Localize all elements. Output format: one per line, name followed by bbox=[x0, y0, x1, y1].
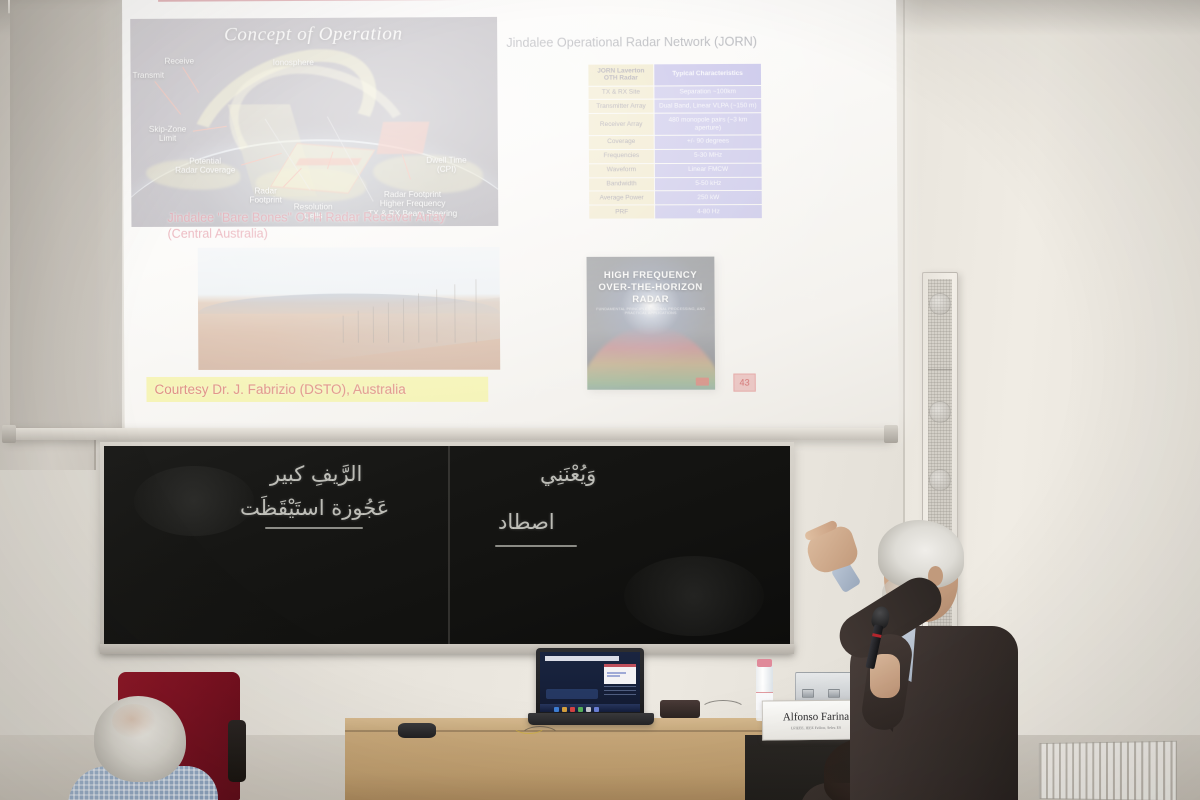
courtesy-highlight: Courtesy Dr. J. Fabrizio (DSTO), Austral… bbox=[146, 377, 488, 402]
row-value: 5-30 MHz bbox=[655, 149, 762, 162]
speaker-driver-icon bbox=[929, 469, 951, 491]
row-value: 5-50 kHz bbox=[655, 177, 762, 190]
receiver-array-photo bbox=[198, 247, 501, 370]
chalk-underline bbox=[265, 527, 363, 529]
laptop-notes-pane bbox=[604, 686, 636, 698]
taskbar-icon[interactable] bbox=[578, 707, 583, 712]
table-header-row: JORN Laverton OTH Radar Typical Characte… bbox=[588, 64, 761, 86]
computer-mouse[interactable] bbox=[398, 723, 436, 738]
table-row: WaveformLinear FMCW bbox=[589, 163, 762, 177]
chalk-text-right-1: وَيُعْنَنِي bbox=[540, 462, 596, 486]
audience-member-left bbox=[60, 690, 270, 800]
row-key: Waveform bbox=[589, 164, 654, 177]
row-value: Separation ~100km bbox=[654, 86, 761, 99]
presenter bbox=[808, 508, 1020, 800]
row-key: Average Power bbox=[589, 192, 654, 205]
chalk-ledge bbox=[100, 644, 794, 654]
chalk-text-left-2: عَجُوزة استَيْقَظَت bbox=[240, 496, 389, 520]
row-value: 480 monopole pairs (~3 km aperture) bbox=[655, 114, 762, 135]
row-value: 4-80 Hz bbox=[655, 205, 762, 218]
label-receive: Receive bbox=[164, 57, 194, 67]
taskbar-icon[interactable] bbox=[570, 707, 575, 712]
row-key: Coverage bbox=[589, 136, 654, 149]
label-transmit: Transmit bbox=[133, 71, 165, 81]
laptop-titlebar bbox=[545, 656, 619, 661]
table-header-key: JORN Laverton OTH Radar bbox=[588, 64, 653, 85]
table-row: Bandwidth5-50 kHz bbox=[589, 177, 762, 191]
antenna-mast bbox=[358, 311, 359, 343]
screen-unlit-area bbox=[10, 0, 122, 436]
label-radar-footprint: Radar Footprint bbox=[249, 186, 282, 205]
row-value: Linear FMCW bbox=[655, 163, 762, 176]
table-header-value: Typical Characteristics bbox=[654, 64, 761, 85]
label-ionosphere: Ionosphere bbox=[273, 58, 314, 68]
jorn-characteristics-table: JORN Laverton OTH Radar Typical Characte… bbox=[587, 63, 763, 220]
publisher-logo-icon bbox=[696, 378, 709, 386]
laptop-base[interactable] bbox=[528, 713, 654, 725]
screen-roller-end bbox=[2, 425, 16, 443]
chalk-text-right-2: اصطاد bbox=[498, 510, 555, 534]
table-row: TX & RX SiteSeparation ~100km bbox=[588, 86, 761, 100]
jorn-heading: Jindalee Operational Radar Network (JORN… bbox=[506, 34, 810, 50]
table-row: PRF4-80 Hz bbox=[589, 205, 762, 218]
bottle-cap bbox=[757, 659, 772, 667]
higher-frequency-footprint bbox=[376, 122, 429, 154]
blackboard[interactable] bbox=[104, 446, 790, 644]
chalk-smudge bbox=[134, 466, 254, 536]
row-key: TX & RX Site bbox=[588, 86, 653, 99]
power-cable bbox=[512, 716, 546, 734]
chalk-text-left-1: الرَّيفِ كبير bbox=[270, 462, 362, 486]
antenna-mast bbox=[454, 284, 455, 343]
taskbar-icon[interactable] bbox=[554, 707, 559, 712]
laptop-lid bbox=[536, 648, 644, 716]
receiver-array-caption: Jindalee "Bare Bones" OTH Radar Receiver… bbox=[167, 209, 499, 242]
laptop-slide-thumbnail bbox=[604, 664, 636, 684]
label-potential-radar-coverage: Potential Radar Coverage bbox=[175, 157, 235, 176]
row-key: Bandwidth bbox=[589, 178, 654, 191]
table-row: Coverage+/- 90 degrees bbox=[589, 135, 762, 149]
row-value: 250 kW bbox=[655, 191, 762, 204]
label-skip-zone-limit: Skip-Zone Limit bbox=[149, 125, 186, 144]
slide-title: SKY WAVE OVER-THE-HORIZON (OTH) RADAR bbox=[220, 0, 806, 2]
laptop-taskbar[interactable] bbox=[540, 704, 640, 712]
table-row: Frequencies5-30 MHz bbox=[589, 149, 762, 163]
presentation-remote[interactable] bbox=[660, 700, 700, 718]
slide-number-badge: 43 bbox=[733, 374, 755, 392]
speaker-seam bbox=[928, 369, 952, 370]
book-title: HIGH FREQUENCY OVER-THE-HORIZON RADAR bbox=[587, 269, 715, 306]
thumbnail-line bbox=[607, 672, 626, 674]
row-key: Frequencies bbox=[589, 150, 654, 163]
table-row: Average Power250 kW bbox=[589, 191, 762, 205]
taskbar-icon[interactable] bbox=[562, 707, 567, 712]
antenna-mast bbox=[343, 316, 344, 343]
screen-roller-bar[interactable] bbox=[6, 428, 892, 440]
concept-panel-heading: Concept of Operation bbox=[130, 23, 497, 47]
antenna-mast bbox=[373, 306, 374, 343]
taskbar-icon[interactable] bbox=[586, 707, 591, 712]
laptop-screen[interactable] bbox=[540, 652, 640, 712]
chalk-underline bbox=[495, 545, 577, 547]
antenna-mast bbox=[475, 279, 476, 343]
speaker-driver-icon bbox=[929, 401, 951, 423]
screen-roller-end bbox=[884, 425, 898, 443]
table-row: Receiver Array480 monopole pairs (~3 km … bbox=[589, 114, 762, 135]
attendee-scalp bbox=[112, 704, 156, 738]
laptop-media-controls[interactable] bbox=[546, 689, 598, 699]
projected-slide: SKY WAVE OVER-THE-HORIZON (OTH) RADAR Co… bbox=[122, 0, 899, 428]
row-key: Receiver Array bbox=[589, 114, 654, 135]
label-dwell-time: Dwell Time (CPI) bbox=[426, 156, 467, 175]
row-key: PRF bbox=[589, 206, 654, 219]
chalk-smudge bbox=[624, 556, 764, 636]
taskbar-icon[interactable] bbox=[594, 707, 599, 712]
blackboard-panel-divider bbox=[448, 446, 450, 644]
cable bbox=[700, 700, 746, 720]
leader-line bbox=[154, 81, 181, 115]
thumbnail-line bbox=[607, 675, 620, 677]
leader-line bbox=[182, 67, 199, 93]
row-key: Transmitter Array bbox=[589, 100, 654, 113]
lecture-hall-scene: SKY WAVE OVER-THE-HORIZON (OTH) RADAR Co… bbox=[0, 0, 1200, 800]
row-value: +/- 90 degrees bbox=[655, 135, 762, 148]
concept-of-operation-panel: Concept of Operation Receive Transmit Io… bbox=[130, 17, 498, 227]
book-cover: HIGH FREQUENCY OVER-THE-HORIZON RADAR FU… bbox=[587, 257, 716, 390]
book-subtitle: FUNDAMENTAL PRINCIPLES, SIGNAL PROCESSIN… bbox=[587, 307, 715, 315]
table-row: Transmitter ArrayDual Band, Linear VLPA … bbox=[589, 100, 762, 114]
courtesy-text: Courtesy Dr. J. Fabrizio (DSTO), Austral… bbox=[154, 382, 405, 397]
speaker-driver-icon bbox=[929, 293, 951, 315]
wall-radiator bbox=[1039, 741, 1177, 800]
row-value: Dual Band, Linear VLPA (~150 m) bbox=[654, 100, 761, 113]
